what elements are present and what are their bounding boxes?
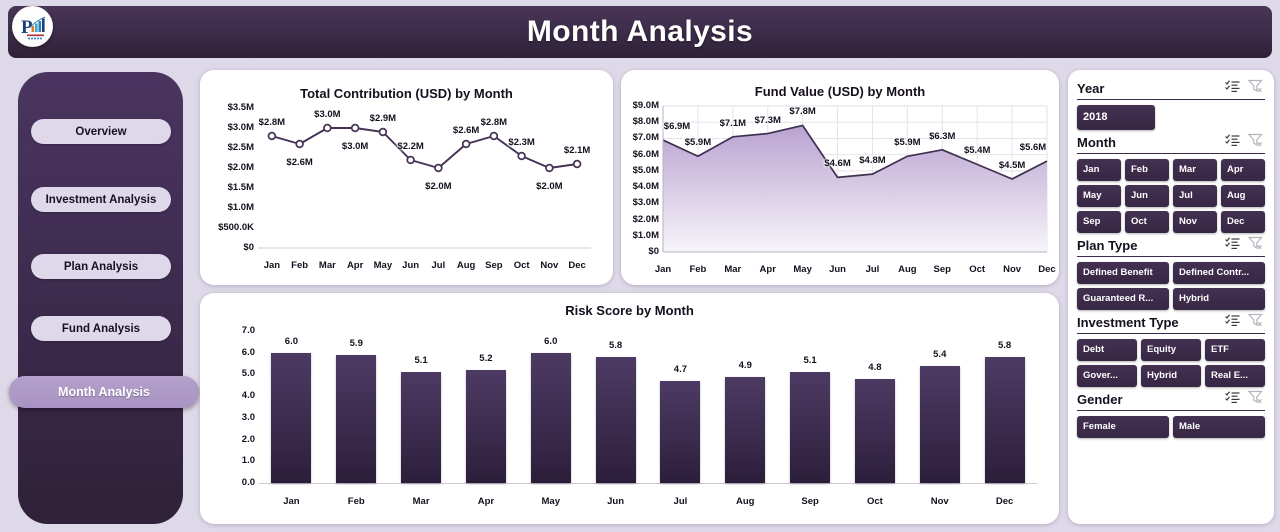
slicer-option[interactable]: Aug	[1221, 185, 1265, 207]
data-label: $4.5M	[999, 160, 1025, 171]
sidebar-item-label: Investment Analysis	[46, 194, 157, 206]
data-label: $5.4M	[964, 145, 990, 156]
slicer-options: FemaleMale	[1077, 416, 1265, 438]
bar[interactable]	[920, 366, 960, 483]
data-label: $7.3M	[755, 115, 781, 126]
y-axis-tick: 3.0	[219, 412, 255, 423]
data-label: 5.2	[479, 353, 492, 364]
y-axis-tick: $6.0M	[621, 149, 659, 160]
y-axis-tick: $0	[202, 242, 254, 253]
x-axis-tick: Apr	[461, 496, 511, 507]
data-label: 4.8	[868, 362, 881, 373]
sidebar-item-plan-analysis[interactable]: Plan Analysis	[31, 254, 171, 279]
x-axis-tick: Mar	[396, 496, 446, 507]
slicer-title: Year	[1077, 81, 1225, 96]
dashboard-page: Month Analysis P Overview Investment Ana…	[0, 0, 1280, 532]
y-axis-tick: 0.0	[219, 477, 255, 488]
data-label: $2.9M	[370, 113, 396, 124]
clear-filter-icon[interactable]	[1248, 313, 1263, 332]
sidebar-item-label: Plan Analysis	[64, 261, 138, 273]
slicer-option[interactable]: Gover...	[1077, 365, 1137, 387]
data-label: $2.1M	[564, 145, 590, 156]
slicer-investment-type: Investment TypeDebtEquityETFGover...Hybr…	[1077, 312, 1265, 387]
x-axis-tick: Dec	[1027, 264, 1067, 275]
slicer-option[interactable]: Debt	[1077, 339, 1137, 361]
sidebar-item-month-analysis[interactable]: Month Analysis	[9, 376, 199, 408]
y-axis-tick: $8.0M	[621, 116, 659, 127]
slicer-option[interactable]: Guaranteed R...	[1077, 288, 1169, 310]
x-axis-tick: Nov	[915, 496, 965, 507]
slicer-icons	[1225, 313, 1265, 332]
data-label: $2.0M	[536, 181, 562, 192]
y-axis-tick: $7.0M	[621, 132, 659, 143]
y-axis-tick: 5.0	[219, 368, 255, 379]
x-axis-tick: Dec	[980, 496, 1030, 507]
y-axis-tick: $3.0M	[202, 122, 254, 133]
slicer-option[interactable]: Mar	[1173, 159, 1217, 181]
y-axis-tick: $2.0M	[202, 162, 254, 173]
slicer-options: Defined BenefitDefined Contr...Guarantee…	[1077, 262, 1265, 310]
y-axis-tick: $1.5M	[202, 182, 254, 193]
y-axis-tick: $1.0M	[202, 202, 254, 213]
data-label: $6.9M	[664, 121, 690, 132]
bar[interactable]	[725, 377, 765, 483]
slicer-option[interactable]: May	[1077, 185, 1121, 207]
sidebar-item-label: Month Analysis	[58, 385, 150, 399]
y-axis-tick: $3.0M	[621, 197, 659, 208]
slicer-icons	[1225, 79, 1265, 98]
bar[interactable]	[466, 370, 506, 483]
bar-chart-plot[interactable]: 0.01.02.03.04.05.06.07.06.0Jan5.9Feb5.1M…	[259, 331, 1037, 483]
data-label: 5.8	[998, 340, 1011, 351]
data-label: $3.0M	[314, 109, 340, 120]
chart-title: Fund Value (USD) by Month	[621, 84, 1059, 99]
y-axis-tick: $500.0K	[202, 222, 254, 233]
chart-title: Risk Score by Month	[200, 303, 1059, 318]
data-label: 4.7	[674, 364, 687, 375]
x-axis-tick: Sep	[785, 496, 835, 507]
x-axis-tick: May	[526, 496, 576, 507]
slicer-option[interactable]: Hybrid	[1141, 365, 1201, 387]
chart-title: Total Contribution (USD) by Month	[200, 86, 613, 101]
data-label: $5.9M	[894, 137, 920, 148]
slicer-header: Gender	[1077, 389, 1265, 411]
multi-select-icon[interactable]	[1225, 237, 1240, 255]
slicer-options: DebtEquityETFGover...HybridReal E...	[1077, 339, 1265, 387]
data-label: $6.3M	[929, 131, 955, 142]
data-label: $2.0M	[425, 181, 451, 192]
y-axis-tick: $4.0M	[621, 181, 659, 192]
slicer-option[interactable]: 2018	[1077, 105, 1155, 130]
page-title: Month Analysis	[527, 15, 753, 49]
bar[interactable]	[271, 353, 311, 483]
clear-filter-icon[interactable]	[1248, 236, 1263, 255]
slicer-header: Year	[1077, 78, 1265, 100]
slicer-gender: GenderFemaleMale	[1077, 389, 1265, 438]
slicer-option[interactable]: Hybrid	[1173, 288, 1265, 310]
slicer-year: Year2018	[1077, 78, 1265, 130]
slicer-header: Plan Type	[1077, 235, 1265, 257]
company-logo-icon: P	[12, 6, 53, 47]
x-axis-tick: Aug	[720, 496, 770, 507]
slicer-option[interactable]: Female	[1077, 416, 1169, 438]
bar[interactable]	[596, 357, 636, 483]
slicer-title: Plan Type	[1077, 238, 1225, 253]
data-label: $4.6M	[824, 158, 850, 169]
y-axis-tick: $3.5M	[202, 102, 254, 113]
slicer-option[interactable]: Real E...	[1205, 365, 1265, 387]
data-label: 5.1	[414, 355, 427, 366]
y-axis-tick: $9.0M	[621, 100, 659, 111]
slicer-icons	[1225, 133, 1265, 152]
slicer-title: Month	[1077, 135, 1225, 150]
multi-select-icon[interactable]	[1225, 314, 1240, 332]
slicer-plan-type: Plan TypeDefined BenefitDefined Contr...…	[1077, 235, 1265, 310]
risk-score-chart-card: Risk Score by Month 0.01.02.03.04.05.06.…	[200, 293, 1059, 524]
x-axis-tick: Oct	[850, 496, 900, 507]
y-axis-tick: 1.0	[219, 455, 255, 466]
bar[interactable]	[660, 381, 700, 483]
y-axis-tick: 4.0	[219, 390, 255, 401]
data-label: 5.8	[609, 340, 622, 351]
sidebar-item-label: Fund Analysis	[62, 323, 140, 335]
slicer-options: JanFebMarAprMayJunJulAugSepOctNovDec	[1077, 159, 1265, 233]
total-contribution-chart-card: Total Contribution (USD) by Month $0$500…	[200, 70, 613, 285]
bar[interactable]	[336, 355, 376, 483]
slicer-option[interactable]: Equity	[1141, 339, 1201, 361]
data-label: 6.0	[285, 336, 298, 347]
data-label: 5.4	[933, 349, 946, 360]
data-label: $2.6M	[286, 157, 312, 168]
area-chart-plot[interactable]: $0$1.0M$2.0M$3.0M$4.0M$5.0M$6.0M$7.0M$8.…	[663, 106, 1047, 252]
clear-filter-icon[interactable]	[1248, 390, 1263, 409]
slicer-option[interactable]: ETF	[1205, 339, 1265, 361]
slicer-title: Investment Type	[1077, 315, 1225, 330]
sidebar-item-investment-analysis[interactable]: Investment Analysis	[31, 187, 171, 212]
data-label: 5.1	[803, 355, 816, 366]
y-axis-tick: $0	[621, 246, 659, 257]
bar[interactable]	[985, 357, 1025, 483]
y-axis-tick: 6.0	[219, 347, 255, 358]
slicer-option[interactable]: Jul	[1173, 185, 1217, 207]
slicer-option[interactable]: Defined Benefit	[1077, 262, 1169, 284]
slicer-option[interactable]: Dec	[1221, 211, 1265, 233]
data-label: $7.1M	[720, 118, 746, 129]
page-header: Month Analysis	[8, 6, 1272, 58]
slicer-option[interactable]: Feb	[1125, 159, 1169, 181]
y-axis-tick: 2.0	[219, 434, 255, 445]
multi-select-icon[interactable]	[1225, 391, 1240, 409]
slicer-month: MonthJanFebMarAprMayJunJulAugSepOctNovDe…	[1077, 132, 1265, 233]
multi-select-icon[interactable]	[1225, 134, 1240, 152]
sidebar-nav: Overview Investment Analysis Plan Analys…	[18, 72, 183, 524]
y-axis-tick: 7.0	[219, 325, 255, 336]
bar[interactable]	[790, 372, 830, 483]
x-axis-tick: Dec	[557, 260, 597, 271]
slicer-option[interactable]: Defined Contr...	[1173, 262, 1265, 284]
slicer-options: 2018	[1077, 105, 1265, 130]
slicer-icons	[1225, 236, 1265, 255]
slicer-option[interactable]: Apr	[1221, 159, 1265, 181]
sidebar-item-label: Overview	[75, 126, 126, 138]
data-label: $2.6M	[453, 125, 479, 136]
data-label: $2.3M	[508, 137, 534, 148]
sidebar-item-overview[interactable]: Overview	[31, 119, 171, 144]
data-label: $2.2M	[397, 141, 423, 152]
bar[interactable]	[531, 353, 571, 483]
data-label: $3.0M	[342, 141, 368, 152]
x-axis-tick: Jan	[266, 496, 316, 507]
slicer-header: Investment Type	[1077, 312, 1265, 334]
x-axis-tick: Jul	[655, 496, 705, 507]
data-label: 4.9	[739, 360, 752, 371]
slicer-option[interactable]: Jan	[1077, 159, 1121, 181]
line-chart-plot[interactable]: $0$500.0K$1.0M$1.5M$2.0M$2.5M$3.0M$3.5MJ…	[258, 108, 591, 248]
slicer-option[interactable]: Jun	[1125, 185, 1169, 207]
data-label: $5.6M	[1020, 142, 1046, 153]
sidebar-item-fund-analysis[interactable]: Fund Analysis	[31, 316, 171, 341]
x-axis-tick: Jun	[591, 496, 641, 507]
clear-filter-icon[interactable]	[1248, 79, 1263, 98]
data-label: $7.8M	[789, 106, 815, 117]
multi-select-icon[interactable]	[1225, 80, 1240, 98]
clear-filter-icon[interactable]	[1248, 133, 1263, 152]
slicer-option[interactable]: Nov	[1173, 211, 1217, 233]
slicer-option[interactable]: Sep	[1077, 211, 1121, 233]
data-label: $2.8M	[259, 117, 285, 128]
data-label: 6.0	[544, 336, 557, 347]
data-label: 5.9	[350, 338, 363, 349]
slicer-title: Gender	[1077, 392, 1225, 407]
slicer-header: Month	[1077, 132, 1265, 154]
bar[interactable]	[855, 379, 895, 483]
data-label: $4.8M	[859, 155, 885, 166]
data-label: $2.8M	[481, 117, 507, 128]
x-axis-line	[259, 483, 1037, 484]
slicer-option[interactable]: Oct	[1125, 211, 1169, 233]
y-axis-tick: $1.0M	[621, 230, 659, 241]
slicer-option[interactable]: Male	[1173, 416, 1265, 438]
line-series	[258, 108, 591, 250]
bar[interactable]	[401, 372, 441, 483]
slicer-icons	[1225, 390, 1265, 409]
y-axis-tick: $2.0M	[621, 214, 659, 225]
filter-panel: Year2018MonthJanFebMarAprMayJunJulAugSep…	[1068, 70, 1274, 524]
data-label: $5.9M	[685, 137, 711, 148]
x-axis-tick: Feb	[331, 496, 381, 507]
y-axis-tick: $2.5M	[202, 142, 254, 153]
fund-value-chart-card: Fund Value (USD) by Month $0$1.0M$2.0M$3…	[621, 70, 1059, 285]
y-axis-tick: $5.0M	[621, 165, 659, 176]
